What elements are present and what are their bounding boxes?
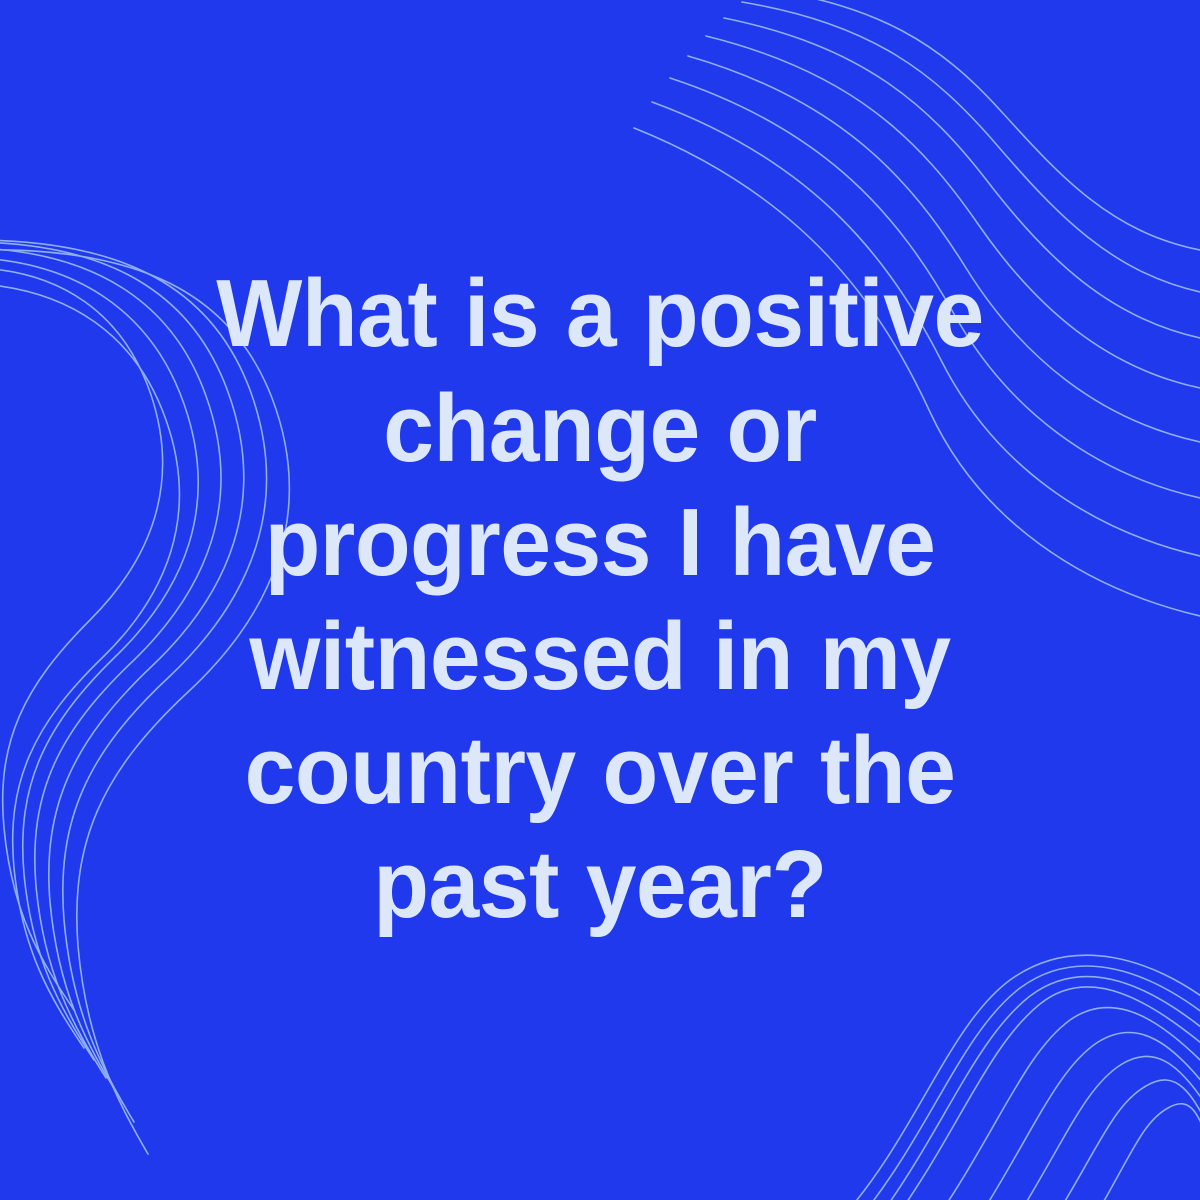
quote-line: progress I have <box>173 486 1028 600</box>
quote-line: witnessed in my <box>173 600 1028 714</box>
quote-line: country over the <box>173 714 1028 828</box>
quote-line: What is a positive <box>173 257 1028 371</box>
quote-text: What is a positive change or progress I … <box>173 257 1028 942</box>
quote-line: change or <box>173 372 1028 486</box>
quote-card: What is a positive change or progress I … <box>0 0 1200 1200</box>
quote-block: What is a positive change or progress I … <box>0 0 1200 1200</box>
quote-line: past year? <box>173 828 1028 942</box>
